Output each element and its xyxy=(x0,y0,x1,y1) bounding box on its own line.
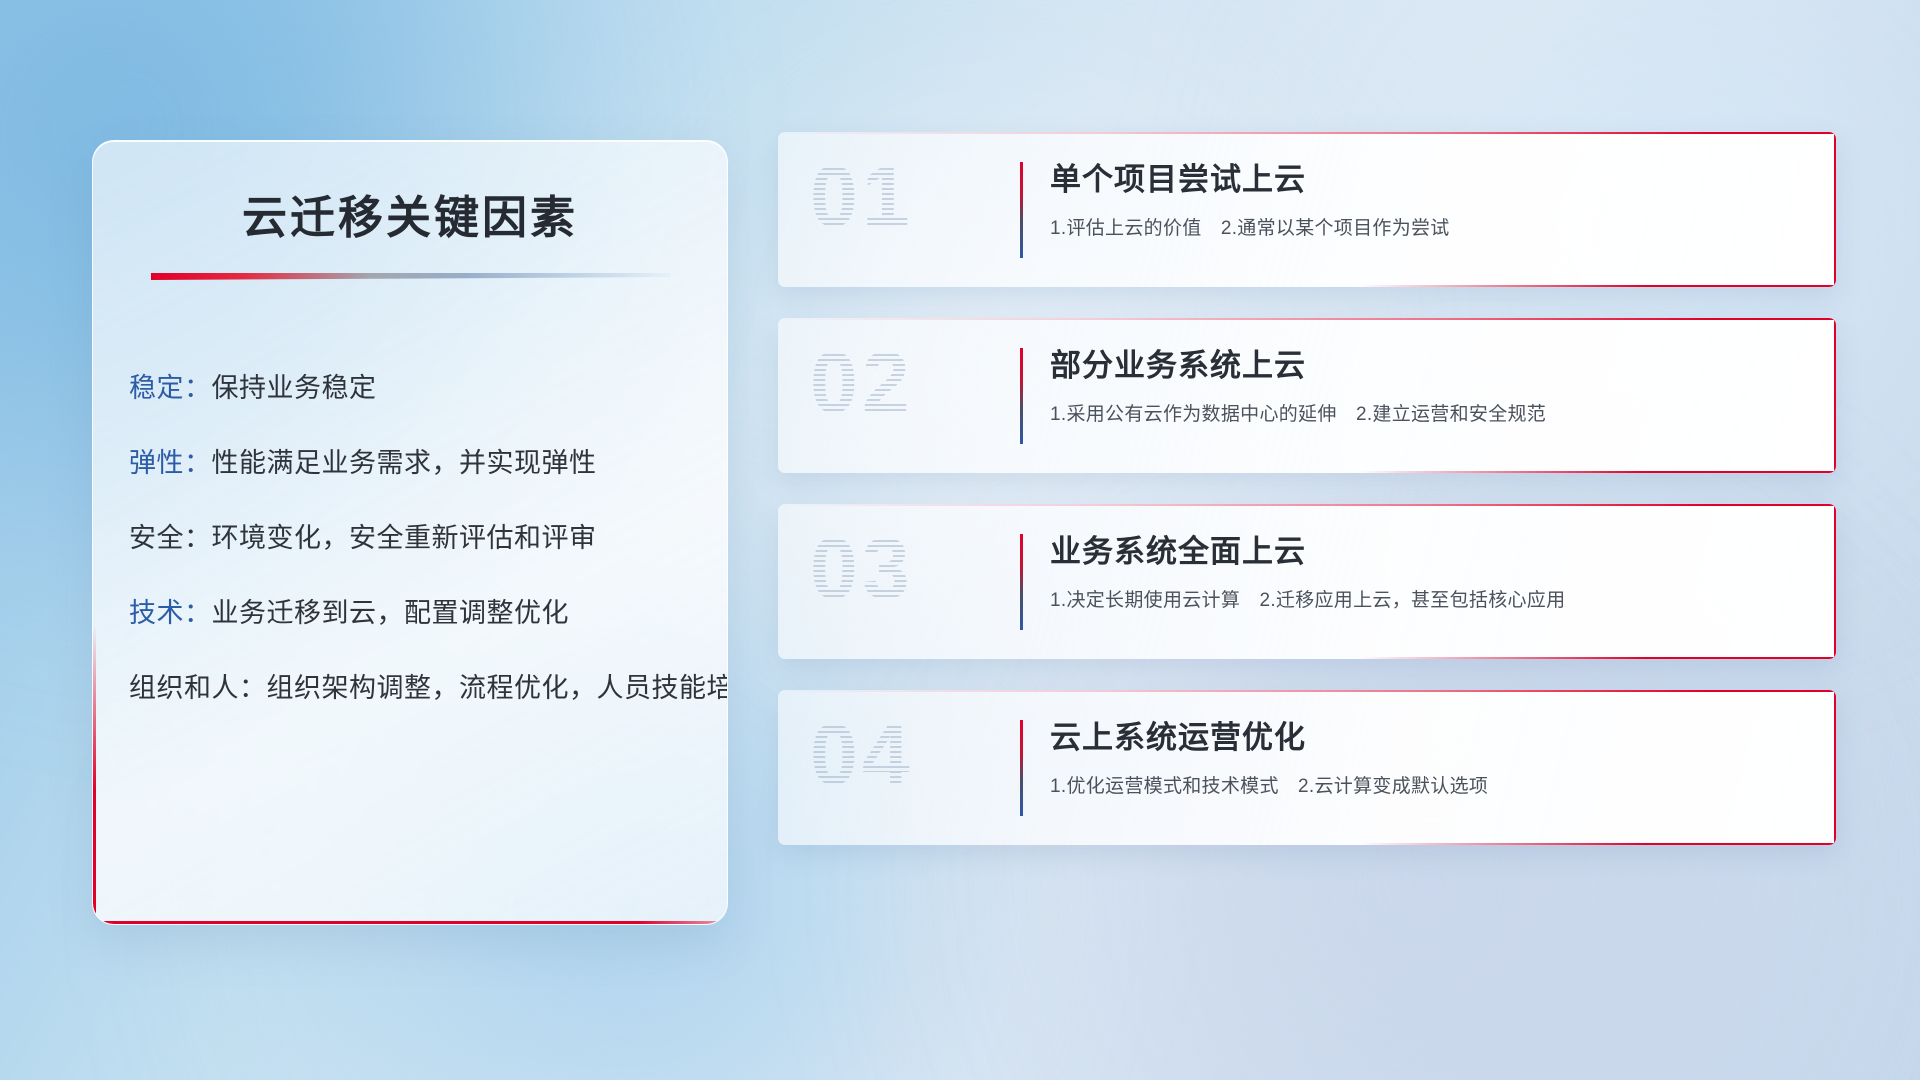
stage-number: 02 xyxy=(810,334,914,433)
key-factors-panel: 云迁移关键因素 稳定：保持业务稳定弹性：性能满足业务需求，并实现弹性安全：环境变… xyxy=(92,140,728,925)
stage-subtitle: 1.决定长期使用云计算 2.迁移应用上云，甚至包括核心应用 xyxy=(1050,585,1808,612)
card-right-accent xyxy=(1834,690,1836,845)
stage-title: 单个项目尝试上云 xyxy=(1050,158,1808,202)
stage-card[interactable]: 03业务系统全面上云1.决定长期使用云计算 2.迁移应用上云，甚至包括核心应用 xyxy=(778,504,1836,659)
panel-title: 云迁移关键因素 xyxy=(93,181,727,246)
card-bottom-accent xyxy=(1360,285,1836,287)
stage-title: 云上系统运营优化 xyxy=(1050,716,1808,760)
card-body: 单个项目尝试上云1.评估上云的价值 2.通常以某个项目作为尝试 xyxy=(1050,158,1808,240)
key-factor-label: 安全： xyxy=(129,523,212,553)
key-factor-item: 弹性：性能满足业务需求，并实现弹性 xyxy=(129,426,693,501)
card-divider xyxy=(1020,534,1023,630)
key-factor-text: 组织架构调整，流程优化，人员技能培训 xyxy=(267,673,729,703)
card-divider xyxy=(1020,162,1023,258)
slide-canvas: 云迁移关键因素 稳定：保持业务稳定弹性：性能满足业务需求，并实现弹性安全：环境变… xyxy=(0,0,1920,1080)
key-factor-label: 稳定： xyxy=(129,373,212,403)
key-factor-text: 环境变化，安全重新评估和评审 xyxy=(212,523,597,553)
stage-number: 01 xyxy=(810,148,914,247)
stage-number: 03 xyxy=(810,520,914,619)
card-right-accent xyxy=(1834,504,1836,659)
stage-card[interactable]: 04云上系统运营优化1.优化运营模式和技术模式 2.云计算变成默认选项 xyxy=(778,690,1836,845)
stage-title: 部分业务系统上云 xyxy=(1050,344,1808,388)
stage-card[interactable]: 02部分业务系统上云1.采用公有云作为数据中心的延伸 2.建立运营和安全规范 xyxy=(778,318,1836,473)
card-top-accent xyxy=(778,690,1836,692)
stage-subtitle: 1.采用公有云作为数据中心的延伸 2.建立运营和安全规范 xyxy=(1050,399,1808,426)
stage-subtitle: 1.优化运营模式和技术模式 2.云计算变成默认选项 xyxy=(1050,771,1808,798)
stage-title: 业务系统全面上云 xyxy=(1050,530,1808,574)
card-top-accent xyxy=(778,504,1836,506)
key-factor-label: 技术： xyxy=(129,598,212,628)
card-top-accent xyxy=(778,132,1836,134)
card-body: 部分业务系统上云1.采用公有云作为数据中心的延伸 2.建立运营和安全规范 xyxy=(1050,344,1808,426)
card-bottom-accent xyxy=(1360,471,1836,473)
key-factor-text: 性能满足业务需求，并实现弹性 xyxy=(212,448,597,478)
card-right-accent xyxy=(1834,132,1836,287)
key-factor-text: 业务迁移到云，配置调整优化 xyxy=(212,598,570,628)
card-body: 业务系统全面上云1.决定长期使用云计算 2.迁移应用上云，甚至包括核心应用 xyxy=(1050,530,1808,612)
card-right-accent xyxy=(1834,318,1836,473)
key-factor-item: 安全：环境变化，安全重新评估和评审 xyxy=(129,501,693,576)
stage-number: 04 xyxy=(810,706,914,805)
card-bottom-accent xyxy=(1360,657,1836,659)
stage-subtitle: 1.评估上云的价值 2.通常以某个项目作为尝试 xyxy=(1050,213,1808,240)
card-divider xyxy=(1020,348,1023,444)
card-top-accent xyxy=(778,318,1836,320)
key-factor-label: 弹性： xyxy=(129,448,212,478)
card-divider xyxy=(1020,720,1023,816)
card-body: 云上系统运营优化1.优化运营模式和技术模式 2.云计算变成默认选项 xyxy=(1050,716,1808,798)
key-factor-item: 组织和人：组织架构调整，流程优化，人员技能培训 xyxy=(129,651,693,726)
key-factor-text: 保持业务稳定 xyxy=(212,373,377,403)
card-bottom-accent xyxy=(1360,843,1836,845)
key-factors-list: 稳定：保持业务稳定弹性：性能满足业务需求，并实现弹性安全：环境变化，安全重新评估… xyxy=(129,351,693,726)
key-factor-item: 技术：业务迁移到云，配置调整优化 xyxy=(129,576,693,651)
key-factor-label: 组织和人： xyxy=(129,673,267,703)
key-factor-item: 稳定：保持业务稳定 xyxy=(129,351,693,426)
stage-card[interactable]: 01单个项目尝试上云1.评估上云的价值 2.通常以某个项目作为尝试 xyxy=(778,132,1836,287)
title-underline-accent xyxy=(151,273,671,280)
